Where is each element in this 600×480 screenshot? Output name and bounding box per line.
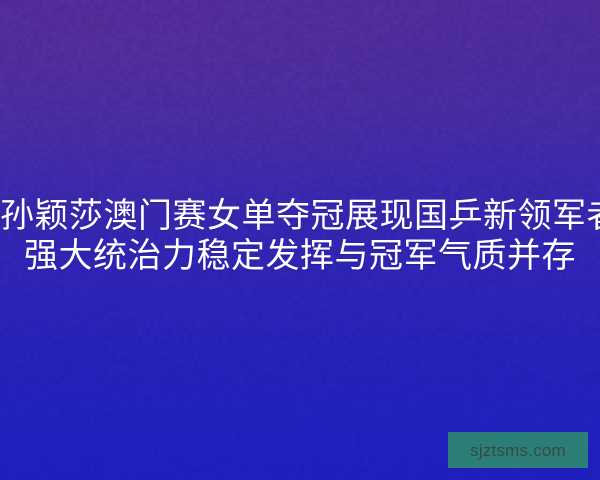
watermark-label: sjztsms.com — [470, 442, 566, 459]
headline-line-2: 强大统治力稳定发挥与冠军气质并存 — [0, 236, 600, 276]
poster-canvas: 孙颖莎澳门赛女单夺冠展现国乒新领军者 强大统治力稳定发挥与冠军气质并存 sjzt… — [0, 0, 600, 480]
watermark-badge: sjztsms.com — [448, 432, 588, 468]
headline-line-1: 孙颖莎澳门赛女单夺冠展现国乒新领军者 — [0, 196, 600, 236]
page-title: 孙颖莎澳门赛女单夺冠展现国乒新领军者 强大统治力稳定发挥与冠军气质并存 — [0, 196, 600, 276]
